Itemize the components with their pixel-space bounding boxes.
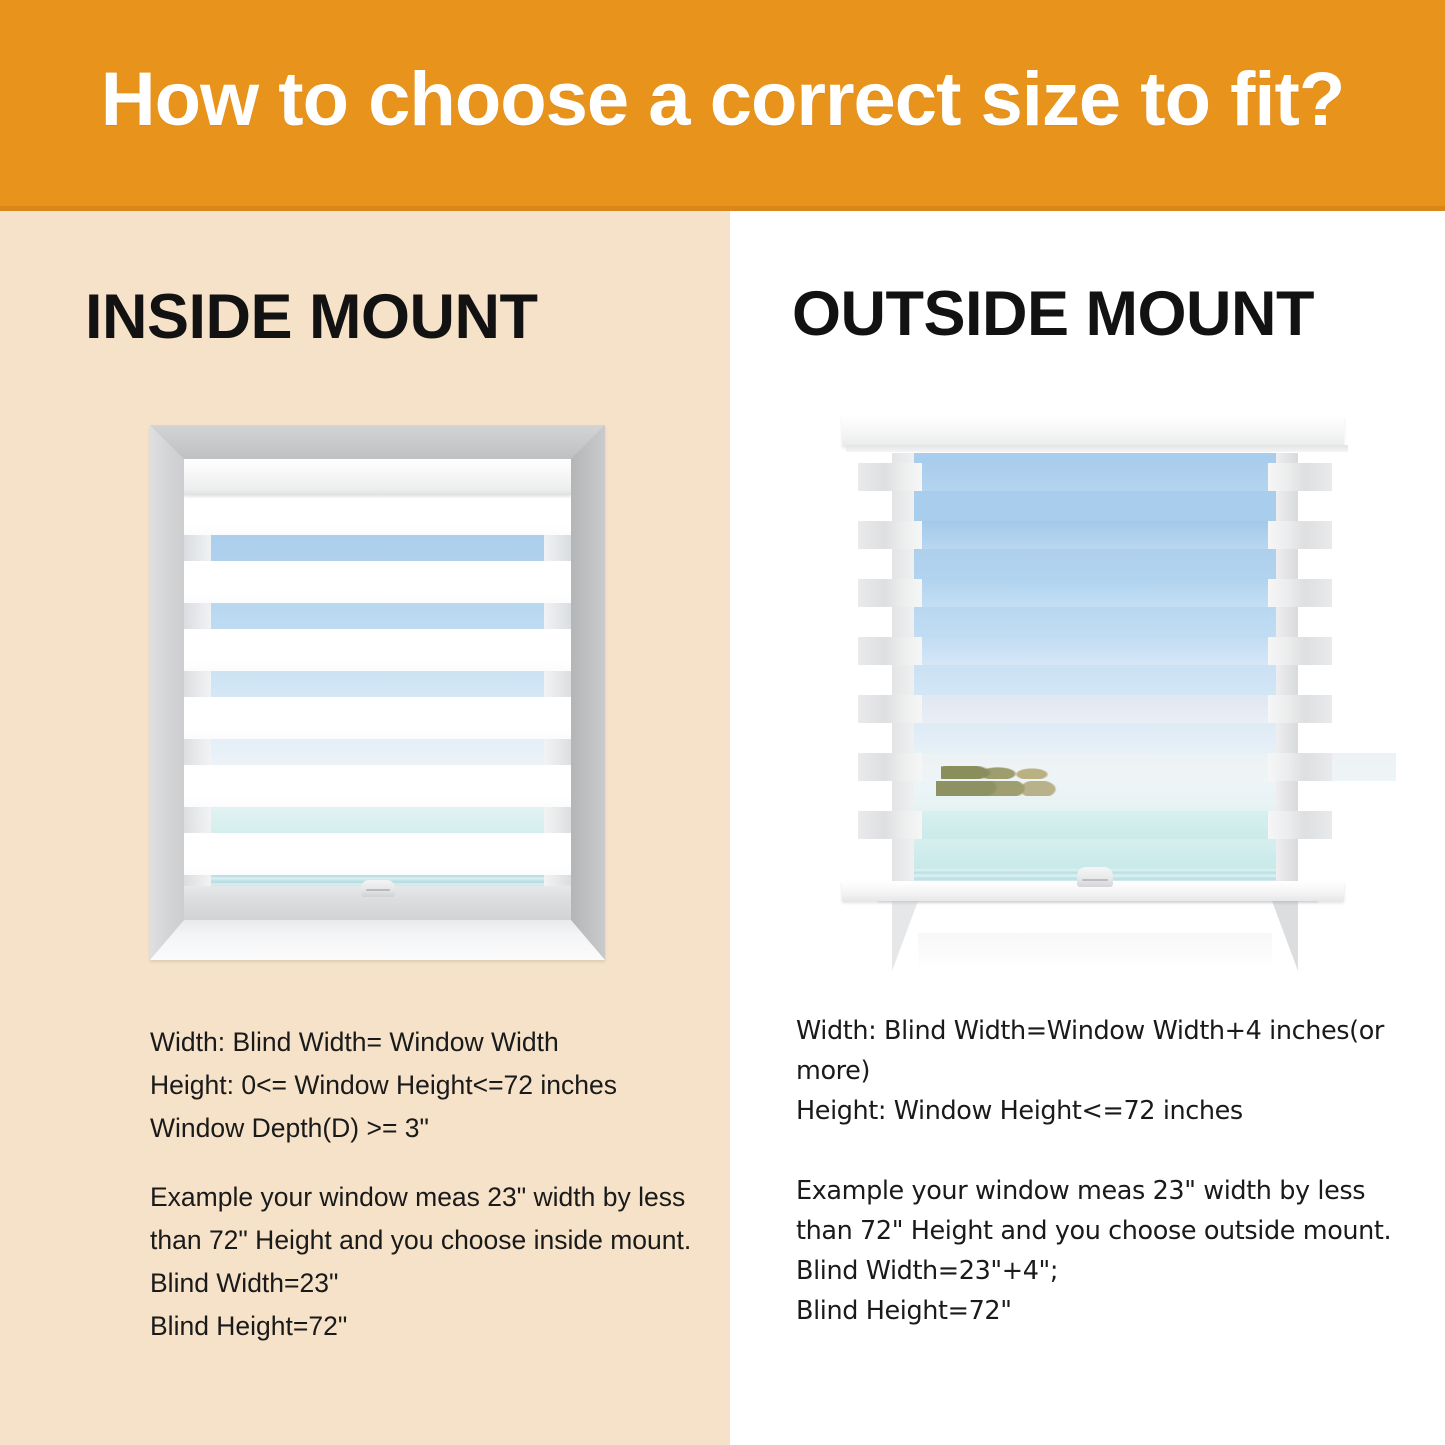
blind-opaque-band: [184, 561, 571, 603]
band-overhang-right: [1268, 753, 1332, 781]
frame-top-reveal: [150, 425, 605, 459]
inside-mount-specs: Width: Blind Width= Window Width Height:…: [150, 1021, 710, 1150]
blind-pull-handle[interactable]: [1077, 867, 1113, 887]
inside-mount-illustration: [150, 425, 605, 960]
blind-head-rail[interactable]: [184, 459, 571, 495]
blind-opaque-band: [184, 629, 571, 671]
blind-band: [858, 521, 1332, 549]
apron-left-bevel: [892, 901, 918, 971]
sheer-band-edge-right: [544, 603, 571, 629]
band-overhang-left: [858, 753, 922, 781]
band-overhang-left: [858, 521, 922, 549]
panel-outside-mount: OUTSIDE MOUNT: [730, 211, 1445, 1445]
band-overhang-left: [858, 579, 922, 607]
blind-band: [858, 811, 1332, 839]
heading-inside-mount: INSIDE MOUNT: [85, 286, 538, 349]
band-sheer-opening: [922, 463, 1268, 491]
band-sheer-opening: [922, 637, 1268, 665]
frame-right-reveal: [571, 425, 605, 960]
apron-face: [918, 933, 1272, 971]
sheer-band-edge-right: [544, 671, 571, 697]
band-sheer-opening: [922, 695, 1268, 723]
band-sheer-opening: [922, 811, 1268, 839]
sheer-band-edge-left: [184, 739, 211, 765]
band-overhang-right: [1268, 463, 1332, 491]
band-overhang-left: [858, 637, 922, 665]
frame-left-reveal: [150, 425, 184, 960]
outside-mount-illustration: [830, 411, 1360, 971]
blind-band: [858, 463, 1332, 491]
island-silhouette: [941, 766, 1083, 779]
sheer-band-edge-right: [544, 739, 571, 765]
band-overhang-left: [858, 811, 922, 839]
blind-pull-handle[interactable]: [361, 880, 395, 897]
band-overhang-right: [1268, 637, 1332, 665]
sheer-band-edge-left: [184, 603, 211, 629]
blind-bottom-rail[interactable]: [184, 886, 571, 920]
infographic-page: How to choose a correct size to fit? INS…: [0, 0, 1445, 1445]
blind-band: [858, 579, 1332, 607]
panels-container: INSIDE MOUNT: [0, 211, 1445, 1445]
blind-opaque-band: [184, 765, 571, 807]
band-overhang-right: [1268, 695, 1332, 723]
band-overhang-right: [1268, 579, 1332, 607]
band-sheer-opening: [922, 521, 1268, 549]
panel-inside-mount: INSIDE MOUNT: [0, 211, 730, 1445]
band-overhang-right: [1268, 521, 1332, 549]
band-overhang-right: [1268, 811, 1332, 839]
apron-right-bevel: [1272, 901, 1298, 971]
outside-mount-example: Example your window meas 23" width by le…: [796, 1171, 1396, 1331]
sheer-band-edge-right: [544, 807, 571, 833]
blind-opaque-band: [184, 697, 571, 739]
outside-mount-specs: Width: Blind Width=Window Width+4 inches…: [796, 1011, 1396, 1131]
blind-band: [858, 695, 1332, 723]
band-overhang-left: [858, 695, 922, 723]
sheer-band-edge-left: [184, 807, 211, 833]
band-overhang-left: [858, 463, 922, 491]
heading-outside-mount: OUTSIDE MOUNT: [792, 283, 1314, 346]
sheer-band-edge-right: [544, 535, 571, 561]
band-sheer-opening: [922, 579, 1268, 607]
frame-sill: [150, 920, 605, 960]
sheer-band-edge-left: [184, 535, 211, 561]
blind-band: [858, 637, 1332, 665]
blind-opaque-band: [184, 495, 571, 535]
blind-head-rail[interactable]: [842, 415, 1344, 445]
blind-opaque-band: [184, 833, 571, 875]
page-title: How to choose a correct size to fit?: [101, 62, 1345, 138]
header-banner: How to choose a correct size to fit?: [0, 0, 1445, 211]
inside-mount-example: Example your window meas 23" width by le…: [150, 1176, 710, 1348]
window-opening: [184, 459, 571, 920]
sheer-band-edge-left: [184, 671, 211, 697]
blind-band: [858, 753, 1332, 781]
